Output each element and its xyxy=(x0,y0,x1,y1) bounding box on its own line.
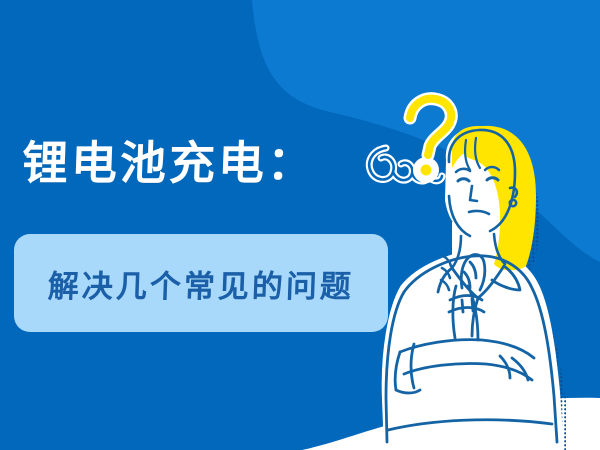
poster-canvas: 锂电池充电： 解决几个常见的问题 xyxy=(0,0,600,450)
page-title: 锂电池充电： xyxy=(21,140,317,186)
title-block: 锂电池充电： xyxy=(22,140,316,186)
subtitle-text: 解决几个常见的问题 xyxy=(47,261,355,306)
subtitle-box: 解决几个常见的问题 xyxy=(14,234,388,332)
thinking-woman-illustration xyxy=(0,0,600,450)
question-mark-icon xyxy=(410,99,451,178)
